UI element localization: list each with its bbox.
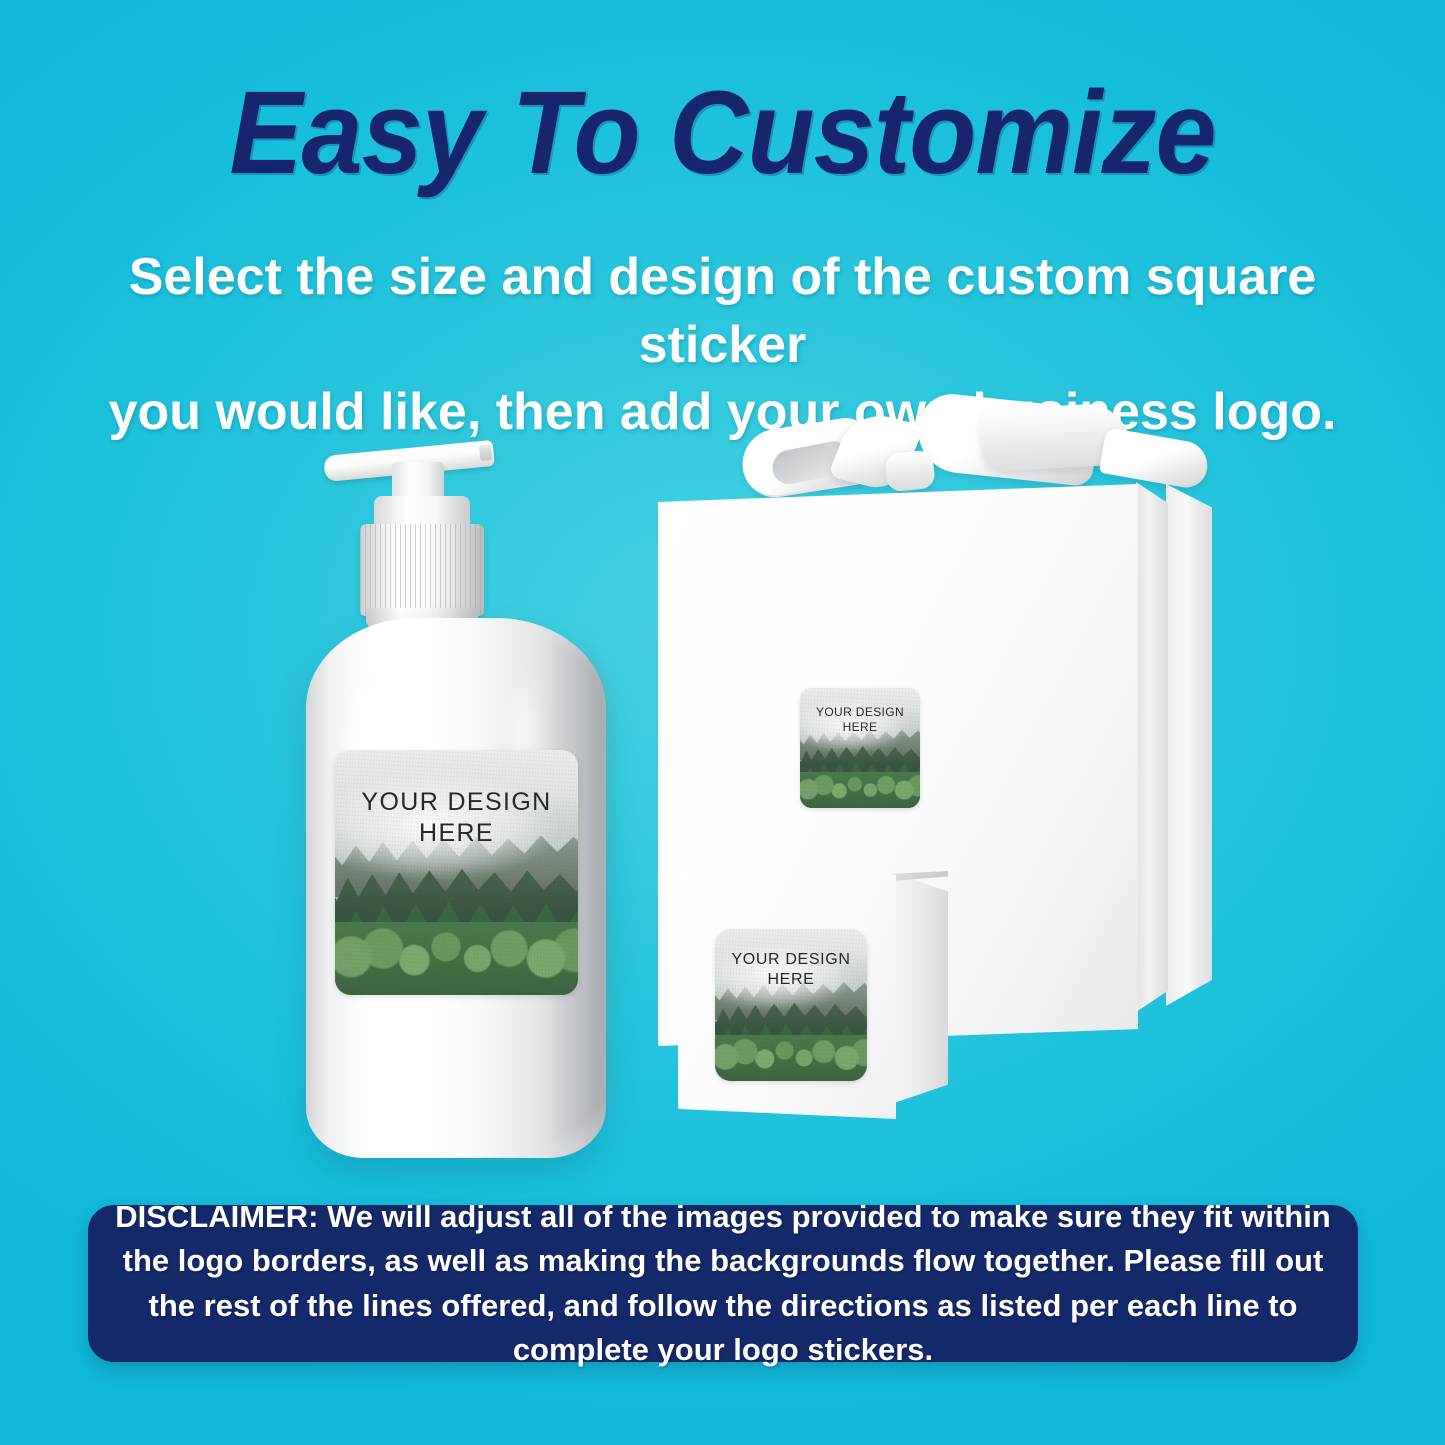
pump-cap-ribbed	[360, 524, 484, 616]
ribbon-knot	[884, 450, 936, 493]
sticker-text-line-2: HERE	[843, 720, 878, 734]
small-box-mockup: YOUR DESIGN HERE	[678, 855, 948, 1125]
forest-artwork: YOUR DESIGN HERE	[715, 929, 867, 1081]
sticker-placeholder-text: YOUR DESIGN HERE	[715, 950, 867, 990]
small-box-side-panel	[894, 873, 948, 1103]
forest-artwork: YOUR DESIGN HERE	[335, 750, 578, 995]
sticker-placeholder-text: YOUR DESIGN HERE	[335, 787, 578, 850]
promo-banner: Easy To Customize Select the size and de…	[0, 0, 1445, 1445]
forest-artwork: YOUR DESIGN HERE	[800, 688, 920, 808]
gift-box-side-back	[1166, 484, 1212, 1006]
small-box-top-edge	[892, 871, 948, 881]
disclaimer-text: DISCLAIMER: We will adjust all of the im…	[114, 1195, 1332, 1371]
sticker-text-line-1: YOUR DESIGN	[361, 788, 551, 816]
gift-box-sticker: YOUR DESIGN HERE	[800, 688, 920, 808]
sticker-placeholder-text: YOUR DESIGN HERE	[800, 705, 920, 735]
sticker-text-line-1: YOUR DESIGN	[816, 705, 904, 719]
pump-bottle-mockup: YOUR DESIGN HERE	[296, 430, 616, 1170]
disclaimer-label: DISCLAIMER:	[115, 1199, 318, 1234]
ribbon-tail-right	[1099, 427, 1211, 491]
small-box-sticker: YOUR DESIGN HERE	[715, 929, 867, 1081]
gift-box-side-front	[1136, 482, 1168, 1012]
bottle-sticker: YOUR DESIGN HERE	[335, 750, 578, 995]
sticker-text-line-2: HERE	[419, 819, 494, 847]
sticker-text-line-2: HERE	[767, 971, 814, 988]
sticker-text-line-1: YOUR DESIGN	[731, 951, 850, 968]
disclaimer-box: DISCLAIMER: We will adjust all of the im…	[88, 1205, 1358, 1362]
